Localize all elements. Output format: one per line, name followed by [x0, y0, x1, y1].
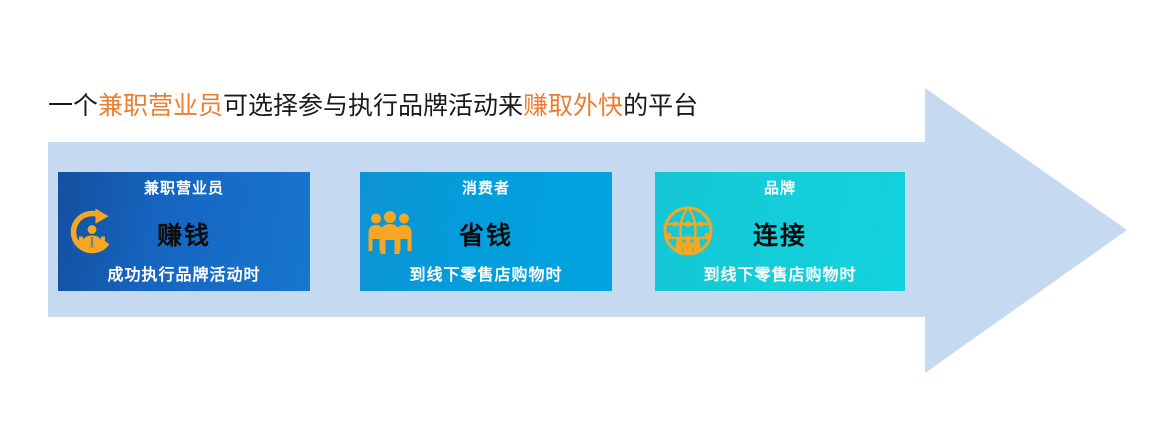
card-caption: 到线下零售店购物时: [360, 261, 612, 285]
card-title: 消费者: [360, 177, 612, 198]
card-label: 连接: [655, 216, 905, 252]
card-consumer[interactable]: 消费者 省钱 到线下零售店购物时: [360, 172, 612, 291]
headline-segment-0: 一个: [48, 92, 98, 120]
card-title: 品牌: [655, 177, 905, 198]
card-caption: 成功执行品牌活动时: [58, 261, 310, 285]
page-title: 一个兼职营业员可选择参与执行品牌活动来赚取外快的平台: [48, 90, 698, 122]
card-label: 赚钱: [58, 216, 310, 252]
card-label: 省钱: [360, 216, 612, 252]
headline-segment-3-accent: 赚取外快: [523, 92, 623, 120]
headline-segment-4: 的平台: [623, 92, 698, 120]
card-caption: 到线下零售店购物时: [655, 261, 905, 285]
headline-segment-2: 可选择参与执行品牌活动来: [223, 92, 523, 120]
card-title: 兼职营业员: [58, 177, 310, 198]
card-part-time-salesperson[interactable]: 兼职营业员 赚钱 成功执行品牌活动时: [58, 172, 310, 291]
headline-segment-1-accent: 兼职营业员: [98, 92, 223, 120]
card-brand[interactable]: 品牌 连接 到线下零售店购物时: [655, 172, 905, 291]
